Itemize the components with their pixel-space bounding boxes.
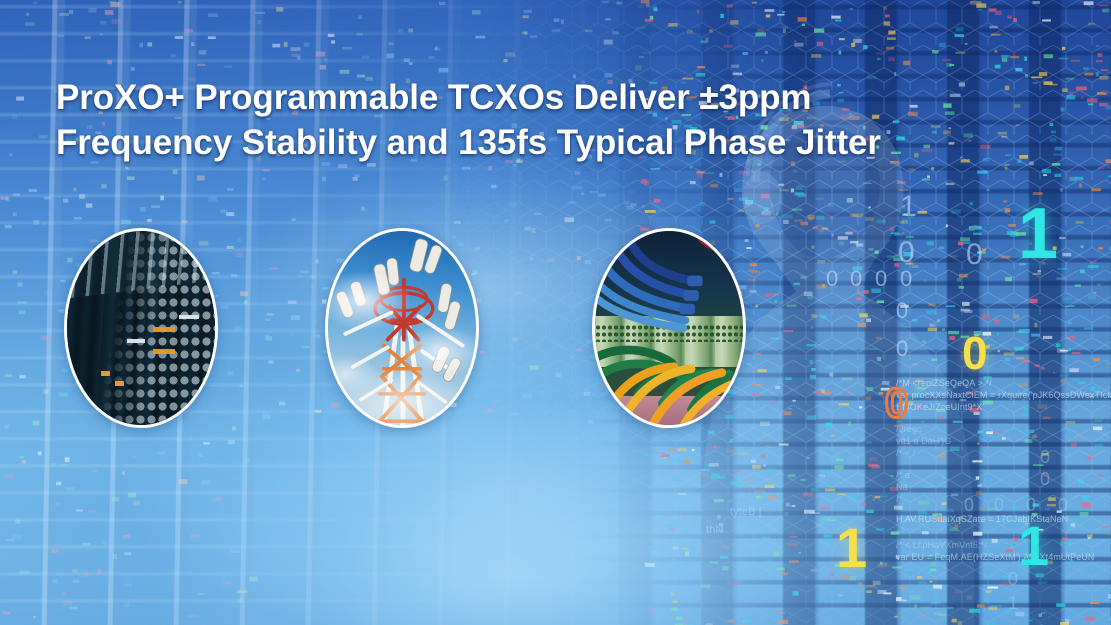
banner-headline: ProXO+ Programmable TCXOs Deliver ±3ppm … [56, 75, 1076, 165]
binary-digit: 0 [966, 240, 983, 270]
binary-digit: 0 [850, 268, 862, 290]
binary-digit: 0 [896, 338, 908, 360]
code-text-line: va1 a DaH')G [896, 436, 951, 446]
binary-digit: 0 [1040, 448, 1050, 466]
binary-digit: 0 [896, 300, 908, 322]
binary-digit: 0 [1058, 496, 1068, 514]
binary-digit: 0 [1026, 496, 1036, 514]
promo-banner: 1001110000000000000001 /*M <replZSeQeQA … [0, 0, 1111, 625]
binary-digit: 0 [875, 268, 887, 290]
network-switch-photo [595, 231, 743, 425]
circle-image-cell-tower [325, 228, 479, 428]
code-text-line: Bf4OKeJIZceUInt9*X' [896, 402, 984, 412]
code-text-line: /2regc [896, 424, 922, 434]
code-text-line: H AV.RUSdaiXqSZate = 17CJabIKStaNeN [896, 514, 1068, 524]
binary-digit: 0 [885, 382, 908, 424]
circle-image-data-center [64, 228, 218, 428]
code-text-line: /* [896, 494, 902, 504]
sky-clouds [328, 231, 476, 425]
cell-tower-photo [328, 231, 476, 425]
headline-line-1: ProXO+ Programmable TCXOs Deliver ±3ppm [56, 75, 1076, 120]
binary-digit: 0 [900, 268, 912, 290]
binary-digit: 1 [1018, 518, 1049, 574]
code-text-line: /* < / [896, 448, 915, 458]
code-text-line: var EU = FeqM.AE(HZSeXtM').A0eXt4mUtPeUN [896, 552, 1095, 562]
binary-digit: 0 [964, 496, 974, 514]
rack-amber-displays [67, 231, 215, 425]
code-text-line: tyteB [ [730, 506, 762, 518]
binary-digit: 1 [1008, 594, 1018, 612]
code-text-line: /* < LcpHaVXmVnt6;*/ [896, 540, 987, 550]
binary-digit: 0 [1040, 470, 1050, 488]
patch-cables [595, 231, 743, 425]
binary-digit: 0 [962, 330, 988, 376]
code-text-line: var procXXsNaxtCiEM = rXquire('pJK6QssDW… [896, 390, 1111, 400]
binary-digit: 1 [1018, 198, 1058, 270]
binary-digit: 0 [1008, 570, 1018, 588]
circle-image-network-cables [592, 228, 746, 428]
binary-digit: 1 [900, 192, 917, 222]
binary-digit: 0 [898, 238, 915, 268]
binary-digit: 0 [994, 496, 1004, 514]
headline-line-2: Frequency Stability and 135fs Typical Ph… [56, 120, 1076, 165]
code-text-line: /* a [896, 470, 910, 480]
binary-digit: 1 [836, 520, 867, 576]
code-text-line: thN [706, 524, 723, 536]
code-text-line: Na [896, 482, 908, 492]
data-center-photo [67, 231, 215, 425]
binary-digit: 0 [826, 268, 838, 290]
code-text-line: /*M <replZSeQeQA > */ [896, 378, 992, 388]
